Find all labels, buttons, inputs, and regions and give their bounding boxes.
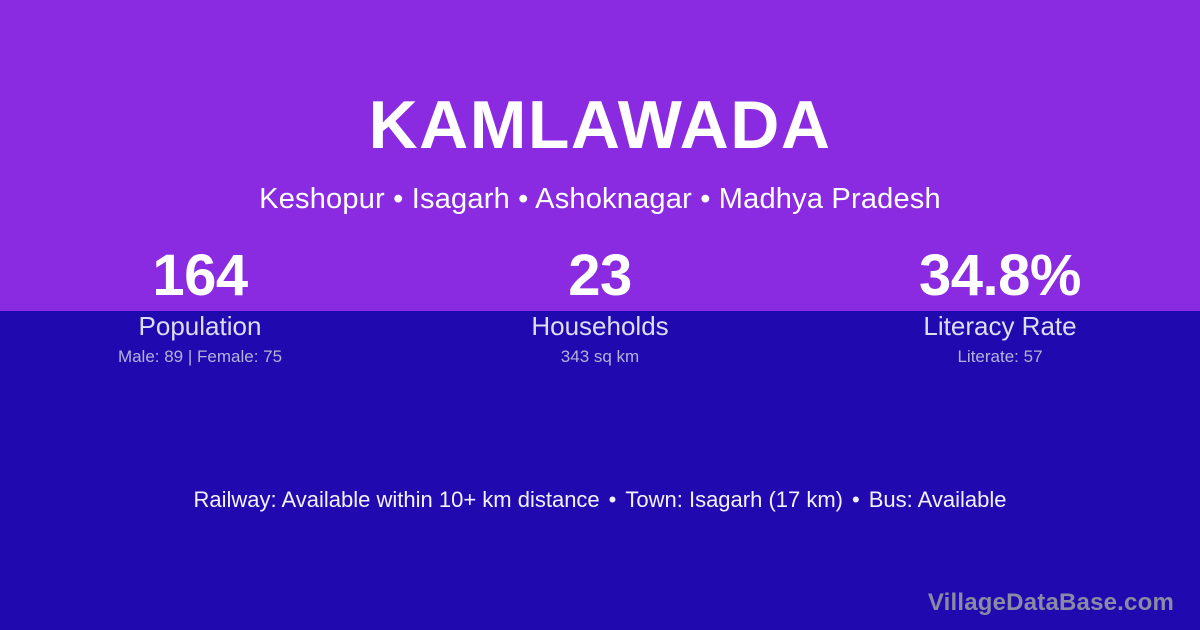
stat-label-literacy-rate: Literacy Rate bbox=[800, 311, 1200, 341]
stat-card-population: 164 Population Male: 89 | Female: 75 bbox=[0, 243, 400, 367]
village-info-card: KAMLAWADA Keshopur • Isagarh • Ashoknaga… bbox=[0, 0, 1200, 630]
stat-sub-literacy-rate: Literate: 57 bbox=[800, 347, 1200, 367]
info-separator-dot-1: • bbox=[600, 486, 626, 514]
breadcrumb: Keshopur • Isagarh • Ashoknagar • Madhya… bbox=[0, 182, 1200, 216]
stat-sub-households: 343 sq km bbox=[400, 347, 800, 367]
stat-value-households: 23 bbox=[400, 243, 800, 309]
info-railway: Railway: Available within 10+ km distanc… bbox=[193, 487, 599, 512]
stat-label-population: Population bbox=[0, 311, 400, 341]
info-separator-dot-2: • bbox=[843, 486, 869, 514]
amenities-info-line: Railway: Available within 10+ km distanc… bbox=[0, 486, 1200, 514]
stats-row: 164 Population Male: 89 | Female: 75 23 … bbox=[0, 243, 1200, 367]
stat-label-households: Households bbox=[400, 311, 800, 341]
info-bus: Bus: Available bbox=[869, 487, 1007, 512]
stat-value-literacy-rate: 34.8% bbox=[800, 243, 1200, 309]
stat-value-population: 164 bbox=[0, 243, 400, 309]
site-watermark: VillageDataBase.com bbox=[928, 588, 1174, 618]
page-title: KAMLAWADA bbox=[0, 86, 1200, 164]
stat-card-literacy-rate: 34.8% Literacy Rate Literate: 57 bbox=[800, 243, 1200, 367]
stat-sub-population: Male: 89 | Female: 75 bbox=[0, 347, 400, 367]
info-town: Town: Isagarh (17 km) bbox=[625, 487, 843, 512]
stat-card-households: 23 Households 343 sq km bbox=[400, 243, 800, 367]
